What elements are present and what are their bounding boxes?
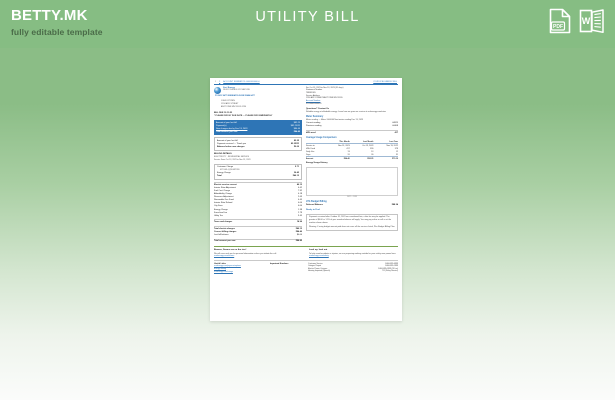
contact-row: Hearing Impaired (Speech)711 (Relay Serv… bbox=[308, 270, 398, 273]
svg-text:PDF: PDF bbox=[553, 24, 563, 30]
useful-link[interactable]: xcelenergy.com/outage bbox=[214, 271, 266, 274]
questions-body: Reliable energy at affordable energy. Le… bbox=[306, 111, 398, 114]
footer-contact-table: Useful Links xcelenergy.com/payment-opti… bbox=[214, 263, 398, 274]
globe-icon bbox=[214, 87, 221, 94]
bill-columns: Xcel Energy RESPONSIBLE BY NATURE PO BOX… bbox=[214, 87, 398, 244]
ready-to-find-title: Ready to Find bbox=[306, 209, 398, 212]
total-value: $84.40 bbox=[296, 240, 302, 243]
summary-value: $84.40 bbox=[294, 131, 300, 134]
usage-comparison-table: This Month Last Month Last Year Service … bbox=[306, 141, 398, 161]
cell: $84.40 bbox=[325, 157, 350, 160]
charge-row: Taxes and charges14.96 bbox=[214, 221, 302, 224]
ready-to-find-box: Payments received after October 31, 2023… bbox=[306, 214, 398, 231]
total-row-final: Total amount you owe$84.40 bbox=[214, 240, 302, 243]
chart-caption: 2022 — 2023 bbox=[306, 196, 398, 198]
total-value: $0.00 bbox=[297, 234, 302, 237]
footer-right: Look up, look out To help avoid accident… bbox=[309, 249, 398, 258]
read-label: Total bbox=[217, 175, 222, 178]
read-row-total: Total $46.13 bbox=[217, 175, 299, 178]
amount-summary-box: Amount of your last bill $82.25 Payment(… bbox=[214, 120, 302, 135]
logo-line-2: RESPONSIBLE BY NATURE bbox=[223, 89, 250, 91]
useful-links-col: Useful Links xcelenergy.com/payment-opti… bbox=[214, 263, 266, 274]
total-row: Last bill balance$0.00 bbox=[214, 234, 302, 237]
pdf-icon[interactable]: PDF bbox=[549, 8, 571, 34]
reads-box: Customer Charge 9.71 417 kWh @ $0.087330… bbox=[214, 164, 302, 181]
topbar-account-number: ACCOUNT NUMBER 51-0000000000-0 bbox=[223, 81, 260, 83]
cell: $79.10 bbox=[373, 157, 398, 160]
usage-history-chart bbox=[306, 167, 398, 196]
page-of: 2 bbox=[219, 81, 220, 83]
meter-row-total: kWh used417 bbox=[306, 132, 398, 135]
contacts-col: Customer Service1-800-895-4999 Outages R… bbox=[308, 263, 398, 274]
summary-row-total: Total amount you owe $84.40 bbox=[216, 131, 300, 134]
page-number: 1 bbox=[215, 81, 216, 83]
bill-footer: Beware, Scams are on the rise! We will n… bbox=[214, 246, 398, 273]
charge-label: Taxes and charges bbox=[214, 221, 232, 224]
due-notice-line-1: * PLEASE PAY BY DUE DATE — PLEASE PAY IM… bbox=[214, 115, 302, 118]
document-preview[interactable]: 1 2 ACCOUNT NUMBER 51-0000000000-0 YOUR … bbox=[210, 78, 402, 321]
bill-right-column: For Oct 13, 2023 to Nov 13, 2023 (31 day… bbox=[306, 87, 398, 244]
service-dates: Service From Oct 13, 2023 to Nov 13, 202… bbox=[214, 159, 302, 162]
charge-value: 14.96 bbox=[297, 221, 302, 224]
footer-divider bbox=[214, 246, 398, 247]
ready-body: Payments received after October 31, 2023… bbox=[309, 216, 395, 224]
meter-label: kWh used bbox=[306, 132, 316, 135]
read-value: 9.71 bbox=[295, 166, 299, 169]
document-topbar: 1 2 ACCOUNT NUMBER 51-0000000000-0 YOUR … bbox=[214, 81, 398, 83]
usage-chart-svg bbox=[308, 169, 396, 195]
account-number-value: 51-0000000000-0 bbox=[306, 103, 398, 106]
cell: $82.25 bbox=[350, 157, 374, 160]
due-notice: BILL DUE 12-13-23 * PLEASE PAY BY DUE DA… bbox=[214, 112, 302, 118]
meter-value: 417 bbox=[395, 132, 398, 135]
bill-left-column: Xcel Energy RESPONSIBLE BY NATURE PO BOX… bbox=[214, 87, 302, 244]
meter-row: Previous reading44408 bbox=[306, 125, 398, 128]
charge-value: 3.45 bbox=[298, 215, 302, 218]
footer-right-link[interactable]: xcelenergy.com/safety bbox=[309, 255, 398, 258]
warn-body: Warning: If using budget amount paid doe… bbox=[309, 226, 395, 229]
deferred-balance-value: $88.34 bbox=[392, 204, 398, 207]
total-label: Last bill balance bbox=[214, 234, 229, 237]
page-header: BETTY.MK fully editable template UTILITY… bbox=[0, 0, 615, 48]
charge-label: Utility Tax bbox=[214, 215, 223, 218]
page-title: UTILITY BILL bbox=[0, 9, 615, 25]
meter-label: Previous reading bbox=[306, 125, 321, 128]
charge-row: Utility Tax3.45 bbox=[214, 215, 302, 218]
deferred-balance-row: Deferred Balance $88.34 bbox=[306, 204, 398, 207]
brand-tagline: fully editable template bbox=[11, 26, 103, 38]
balance-label: Balance before new charges bbox=[217, 146, 245, 149]
total-label: Total amount you owe bbox=[214, 240, 235, 243]
read-value: $46.13 bbox=[293, 175, 299, 178]
deferred-balance-label: Deferred Balance bbox=[306, 204, 323, 207]
address-line-2: ANYTOWN MN 55555-1234 bbox=[221, 106, 302, 109]
contact-value: 711 (Relay Service) bbox=[382, 270, 398, 273]
footer-left-link[interactable]: xcelenergy.com/scams bbox=[214, 255, 303, 258]
topbar-divider bbox=[214, 84, 398, 85]
balance-value: $0.00 bbox=[294, 146, 299, 149]
word-icon[interactable]: W bbox=[579, 8, 605, 34]
download-icons: PDF W bbox=[549, 8, 605, 34]
logo-subtext: PO BOX 9477 MINNEAPOLIS MN 55484-9477 bbox=[215, 95, 302, 97]
charges-list: Interim Rate Adjustment0.42 Fuel Cost Ch… bbox=[214, 187, 302, 224]
customer-address: JOHN CITIZEN 1234 ANY STREET ANYTOWN MN … bbox=[221, 100, 302, 108]
company-logo: Xcel Energy RESPONSIBLE BY NATURE bbox=[214, 87, 302, 95]
important-numbers-title-col: Important Numbers bbox=[270, 263, 304, 274]
summary-label: Total amount you owe bbox=[216, 131, 237, 134]
balance-row: Balance before new charges $0.00 bbox=[217, 146, 299, 149]
footer-left: Beware, Scams are on the rise! We will n… bbox=[214, 249, 303, 258]
table-row-total: Amount $84.40 $82.25 $79.10 bbox=[306, 157, 398, 160]
important-numbers-title: Important Numbers bbox=[270, 263, 304, 266]
contact-label: Hearing Impaired (Speech) bbox=[308, 270, 330, 273]
topbar-bill-link[interactable]: YOUR XCEL ENERGY BILL bbox=[373, 81, 397, 83]
balance-detail-box: Amount of your last bill 82.25 Payment r… bbox=[214, 137, 302, 151]
svg-text:W: W bbox=[582, 16, 591, 26]
row-label: Amount bbox=[306, 157, 325, 160]
meter-value: 44408 bbox=[392, 125, 398, 128]
usage-chart-title: Energy Usage History bbox=[306, 162, 398, 165]
